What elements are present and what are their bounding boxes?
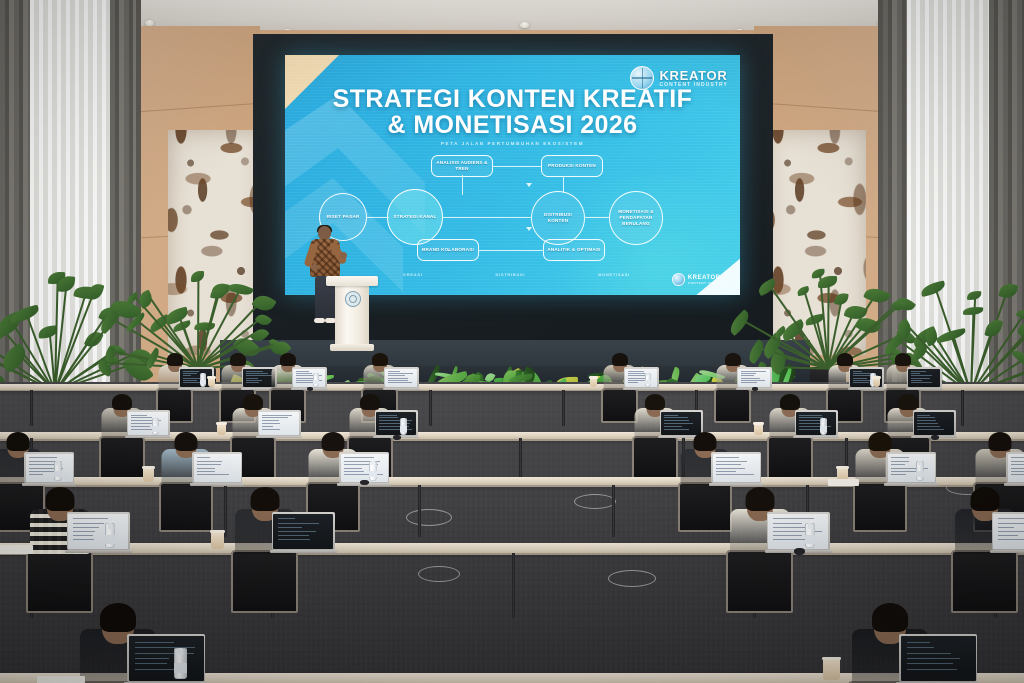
slide-subtitle: PETA JALAN PERTUMBUHAN EKOSISTEM	[285, 141, 740, 146]
diagram-connector	[367, 217, 389, 218]
globe-icon	[672, 273, 685, 286]
laptop	[899, 634, 977, 682]
coffee-cup	[211, 532, 224, 549]
laptop-screen	[341, 454, 388, 482]
screen-text-line	[891, 464, 905, 465]
laptop-base	[848, 388, 885, 390]
screen-text-line	[183, 375, 192, 376]
screen-text-line	[278, 527, 302, 528]
screen-text-line	[197, 464, 221, 465]
seminar-hall-photo: KREATOR CONTENT INDUSTRY STRATEGI KONTEN…	[0, 0, 1024, 683]
cable-coil	[574, 494, 616, 509]
laptop-screen	[194, 454, 241, 482]
presenter-hand-right	[340, 252, 347, 259]
screen-text-line	[716, 468, 745, 469]
laptop-lid	[767, 512, 830, 550]
palm-frond	[796, 286, 809, 296]
screen-text-line	[246, 380, 263, 381]
attendee-hair	[280, 353, 296, 366]
screen-text-line	[296, 371, 309, 372]
laptop	[258, 410, 301, 436]
screen-text-line	[628, 382, 639, 383]
mouse	[752, 387, 758, 391]
screen-text-line	[907, 663, 954, 664]
screen-text-line	[29, 457, 57, 458]
palm-frond	[998, 282, 1018, 301]
laptop	[272, 512, 335, 550]
water-bottle	[820, 418, 827, 435]
bottle-cap	[178, 648, 184, 655]
water-bottle	[400, 418, 407, 435]
laptop	[711, 452, 761, 483]
attendee-hair	[895, 353, 911, 366]
diagram-connector	[479, 250, 543, 251]
bottle-label	[313, 380, 319, 385]
screen-text-line	[891, 457, 909, 458]
laptop-screen	[1008, 454, 1024, 482]
laptop	[67, 512, 130, 550]
screen-text-line	[246, 378, 258, 379]
laptop	[907, 367, 942, 388]
laptop-base	[990, 550, 1024, 553]
bottle-label	[916, 471, 924, 478]
attendee-hair	[971, 487, 1000, 511]
screen-text-line	[911, 380, 923, 381]
screen-text-line	[773, 535, 803, 536]
laptop-lid	[711, 452, 761, 483]
palm-frond	[984, 318, 1003, 339]
mouse	[794, 548, 805, 555]
laptop-base	[623, 388, 660, 390]
screen-text-line	[131, 426, 150, 427]
screen-text-line	[183, 380, 197, 381]
mouse	[931, 435, 939, 440]
laptop-screen	[738, 369, 770, 387]
screen-text-line	[907, 658, 961, 659]
screen-text-line	[741, 375, 754, 376]
screen-text-line	[628, 373, 645, 374]
screen-text-line	[716, 474, 754, 475]
screen-text-line	[741, 382, 757, 383]
slide-diagram: ANALISIS AUDIENS & TRENPRODUKSI KONTENRI…	[313, 153, 712, 265]
screen-text-line	[664, 417, 688, 418]
diagram-connector	[563, 177, 564, 193]
laptop-lid	[795, 410, 838, 436]
laptop	[24, 452, 74, 483]
screen-text-line	[628, 371, 644, 372]
screen-text-line	[73, 531, 96, 532]
notepad	[0, 545, 33, 554]
attendee-hair	[869, 432, 892, 451]
screen-text-line	[388, 371, 401, 372]
screen-text-line	[388, 375, 405, 376]
slide-title-line1: STRATEGI KONTEN KREATIF	[309, 87, 716, 113]
desk-leg	[961, 390, 964, 426]
screen-text-line	[246, 371, 263, 372]
podium-top	[326, 276, 378, 286]
laptop	[127, 634, 205, 682]
screen-text-line	[29, 474, 43, 475]
laptop-screen	[385, 369, 417, 387]
laptop-lid	[258, 410, 301, 436]
laptop	[913, 410, 956, 436]
diagram-connector	[448, 250, 449, 251]
laptop	[737, 367, 772, 388]
coffee-cup	[590, 378, 597, 387]
laptop	[1006, 452, 1024, 483]
screen-text-line	[246, 373, 268, 374]
bottle-label	[645, 380, 651, 385]
laptop-screen	[713, 454, 760, 482]
attendee-hair	[898, 394, 918, 410]
diagram-node-n4: STRATEGI KANAL	[387, 189, 443, 245]
laptop-screen	[273, 514, 333, 549]
attendee-hair	[372, 353, 388, 366]
chair	[231, 550, 298, 613]
laptop	[375, 410, 418, 436]
screen-text-line	[891, 474, 906, 475]
screen-text-line	[344, 471, 364, 472]
ceiling-spotlight	[520, 22, 529, 28]
attendee-hair	[251, 487, 280, 511]
diagram-node-n8: ANALITIK & OPTIMASI	[543, 239, 605, 261]
bottle-cap	[808, 523, 812, 529]
screen-text-line	[998, 523, 1024, 524]
desk-leg	[418, 485, 421, 537]
laptop	[339, 452, 389, 483]
bottle-cap	[154, 418, 157, 422]
bottle-label	[369, 471, 377, 478]
screen-text-line	[907, 642, 931, 643]
chair	[159, 482, 213, 532]
coffee-cup	[143, 468, 154, 482]
screen-text-line	[853, 378, 867, 379]
diagram-node-n6: MONETISASI & PENDAPATAN BERULANG	[609, 191, 663, 245]
chair	[726, 550, 793, 613]
slide-footer-label-1: KREASI	[403, 272, 422, 277]
screen-text-line	[388, 380, 408, 381]
mouse	[307, 387, 313, 391]
screen-text-line	[911, 378, 931, 379]
laptop-screen	[376, 412, 416, 435]
attendee-hair	[360, 394, 380, 410]
screen-text-line	[262, 426, 273, 427]
notepad	[37, 676, 85, 683]
desk	[0, 543, 1024, 553]
palm-frond	[967, 290, 982, 300]
diagram-node-n5: DISTRIBUSI KONTEN	[531, 191, 585, 245]
bottle-label	[152, 426, 159, 432]
laptop-lid	[67, 512, 130, 550]
screen-text-line	[773, 523, 802, 524]
chair	[601, 388, 638, 423]
laptop-base	[906, 388, 943, 390]
attendee-hair	[837, 353, 853, 366]
screen-text-line	[716, 464, 740, 465]
laptop	[292, 367, 327, 388]
screen-text-line	[1011, 471, 1024, 472]
palm-frond	[8, 305, 40, 324]
chair	[99, 436, 145, 479]
desk-leg	[612, 485, 615, 537]
screen-text-line	[891, 461, 909, 462]
desk-leg	[429, 390, 432, 426]
desk-leg	[562, 390, 565, 426]
screen-text-line	[664, 420, 689, 421]
podium	[326, 276, 378, 352]
screen-text-line	[131, 415, 147, 416]
laptop	[192, 452, 242, 483]
attendee-hair	[872, 603, 908, 632]
screen-text-line	[197, 474, 229, 475]
palm-frond	[834, 292, 849, 306]
screen-text-line	[741, 380, 766, 381]
laptop-screen	[908, 369, 940, 387]
screen-text-line	[262, 417, 287, 418]
attendee-hair	[100, 603, 136, 632]
coffee-cup	[823, 659, 840, 680]
desk-leg	[519, 438, 522, 482]
diagram-arrow	[526, 227, 532, 231]
bottle-cap	[108, 523, 112, 529]
water-bottle	[152, 418, 159, 435]
water-bottle	[369, 461, 377, 481]
screen-text-line	[917, 420, 935, 421]
screen-text-line	[183, 373, 197, 374]
laptop-lid	[737, 367, 772, 388]
slide-footer-label-2: DISTRIBUSI	[495, 272, 525, 277]
screen-text-line	[278, 539, 310, 540]
screen-text-line	[29, 464, 56, 465]
institution-emblem-icon	[345, 291, 361, 307]
bottle-label	[400, 426, 407, 432]
cable-coil	[608, 570, 656, 587]
screen-text-line	[907, 653, 951, 654]
laptop-lid	[913, 410, 956, 436]
screen-text-line	[246, 375, 272, 376]
laptop-lid	[292, 367, 327, 388]
diagram-connector	[493, 166, 541, 167]
laptop	[384, 367, 419, 388]
presenter-head	[318, 226, 331, 240]
bottle-label	[805, 535, 815, 544]
screen-text-line	[853, 380, 872, 381]
laptop-base	[383, 388, 420, 390]
screen-text-line	[135, 642, 174, 643]
screen-text-line	[262, 423, 280, 424]
screen-text-line	[1011, 468, 1024, 469]
laptop-screen	[768, 514, 828, 549]
coffee-cup	[754, 424, 763, 435]
chair	[632, 436, 678, 479]
laptop-screen	[293, 369, 325, 387]
screen-text-line	[388, 378, 409, 379]
screen-text-line	[664, 423, 692, 424]
laptop-lid	[886, 452, 936, 483]
water-bottle	[645, 373, 651, 387]
screen-text-line	[278, 518, 296, 519]
screen-text-line	[716, 461, 747, 462]
screen-text-line	[246, 382, 259, 383]
coffee-cup	[217, 424, 226, 435]
screen-text-line	[1011, 474, 1024, 475]
laptop-lid	[127, 634, 205, 682]
chair	[678, 482, 732, 532]
laptop-screen	[259, 412, 299, 435]
coffee-cup	[873, 378, 880, 387]
screen-text-line	[716, 471, 736, 472]
screen-text-line	[1011, 457, 1024, 458]
screen-text-line	[197, 471, 215, 472]
screen-text-line	[296, 373, 313, 374]
bottle-label	[174, 663, 187, 674]
notepad	[828, 479, 859, 486]
desk-edge	[0, 390, 1024, 391]
laptop-lid	[24, 452, 74, 483]
screen-text-line	[296, 378, 315, 379]
screen-text-line	[73, 535, 93, 536]
laptop-base	[270, 550, 337, 553]
screen-text-line	[799, 415, 822, 416]
laptop-base	[884, 483, 938, 486]
screen-text-line	[741, 371, 766, 372]
water-bottle	[200, 373, 206, 387]
screen-text-line	[716, 457, 739, 458]
screen-text-line	[197, 461, 222, 462]
chair	[951, 550, 1018, 613]
chair	[714, 388, 751, 423]
laptop-screen	[796, 412, 836, 435]
screen-text-line	[344, 457, 374, 458]
screen-text-line	[197, 457, 210, 458]
presenter-shoe	[314, 318, 325, 323]
screen-text-line	[917, 423, 938, 424]
slide-title: STRATEGI KONTEN KREATIF & MONETISASI 202…	[285, 87, 740, 138]
screen-text-line	[388, 373, 413, 374]
screen-text-line	[73, 527, 99, 528]
screen-text-line	[998, 531, 1024, 532]
screen-text-line	[853, 371, 862, 372]
laptop	[795, 410, 838, 436]
laptop-base	[793, 436, 839, 438]
water-bottle	[805, 523, 815, 548]
laptop-base	[65, 550, 132, 553]
laptop-base	[256, 436, 302, 438]
screen-text-line	[741, 378, 760, 379]
screen-text-line	[278, 523, 319, 524]
laptop	[624, 367, 659, 388]
water-bottle	[313, 373, 319, 387]
water-bottle	[916, 461, 924, 481]
screen-text-line	[379, 417, 397, 418]
screen-text-line	[1011, 464, 1024, 465]
attendee-hair	[645, 394, 665, 410]
laptop-screen	[625, 369, 657, 387]
screen-text-line	[998, 535, 1018, 536]
screen-text-line	[773, 527, 805, 528]
desk-leg	[30, 390, 33, 426]
screen-text-line	[73, 523, 105, 524]
attendee-hair	[7, 432, 30, 451]
diagram-node-n1: ANALISIS AUDIENS & TREN	[431, 155, 493, 177]
screen-text-line	[344, 468, 362, 469]
screen-text-line	[911, 375, 933, 376]
screen-text-line	[183, 378, 201, 379]
slide-footer-label-3: MONETISASI	[598, 272, 630, 277]
palm-frond	[963, 307, 983, 315]
screen-text-line	[262, 420, 279, 421]
diagram-connector	[462, 175, 463, 195]
screen-text-line	[664, 426, 682, 427]
laptop-lid	[899, 634, 977, 682]
attendee-hair	[746, 487, 775, 511]
coffee-cup	[208, 378, 215, 387]
bottle-cap	[56, 461, 60, 465]
attendee-hair	[612, 353, 628, 366]
attendee-hair	[243, 394, 263, 410]
laptop-lid	[375, 410, 418, 436]
mouse	[360, 480, 369, 485]
screen-text-line	[379, 420, 412, 421]
water-bottle	[174, 648, 187, 679]
brand-name: KREATOR	[659, 69, 728, 82]
laptop-screen	[68, 514, 128, 549]
screen-text-line	[911, 382, 933, 383]
bottle-label	[105, 535, 115, 544]
attendee-hair	[694, 432, 717, 451]
diagram-connector	[585, 217, 609, 218]
screen-text-line	[73, 518, 108, 519]
screen-text-line	[278, 531, 316, 532]
screen-text-line	[73, 539, 94, 540]
chair	[853, 482, 907, 532]
attendee-hair	[322, 432, 345, 451]
screen-text-line	[998, 527, 1014, 528]
laptop	[886, 452, 936, 483]
screen-text-line	[907, 647, 934, 648]
diagram-arrow	[526, 183, 532, 187]
bottle-cap	[402, 418, 405, 422]
screen-text-line	[773, 539, 808, 540]
screen-text-line	[262, 429, 280, 430]
screen-text-line	[197, 468, 215, 469]
screen-text-line	[998, 518, 1024, 519]
screen-text-line	[799, 420, 821, 421]
screen-text-line	[911, 371, 927, 372]
attendee-hair	[46, 487, 75, 511]
laptop-lid	[339, 452, 389, 483]
palm-frond	[818, 276, 837, 288]
screen-text-line	[998, 539, 1024, 540]
screen-text-line	[853, 382, 869, 383]
laptop-screen	[243, 369, 275, 387]
screen-text-line	[917, 415, 929, 416]
laptop	[992, 512, 1024, 550]
attendee-hair	[175, 432, 198, 451]
screen-text-line	[262, 415, 292, 416]
slide-title-line2: & MONETISASI 2026	[309, 113, 716, 139]
mouse	[393, 435, 401, 440]
screen-text-line	[799, 429, 819, 430]
desk-leg	[512, 553, 515, 618]
screen-text-line	[135, 658, 170, 659]
laptop-lid	[272, 512, 335, 550]
attendee-hair	[167, 353, 183, 366]
laptop-lid	[192, 452, 242, 483]
bottle-cap	[918, 461, 922, 465]
cable-coil	[406, 509, 452, 526]
laptop-base	[178, 388, 215, 390]
